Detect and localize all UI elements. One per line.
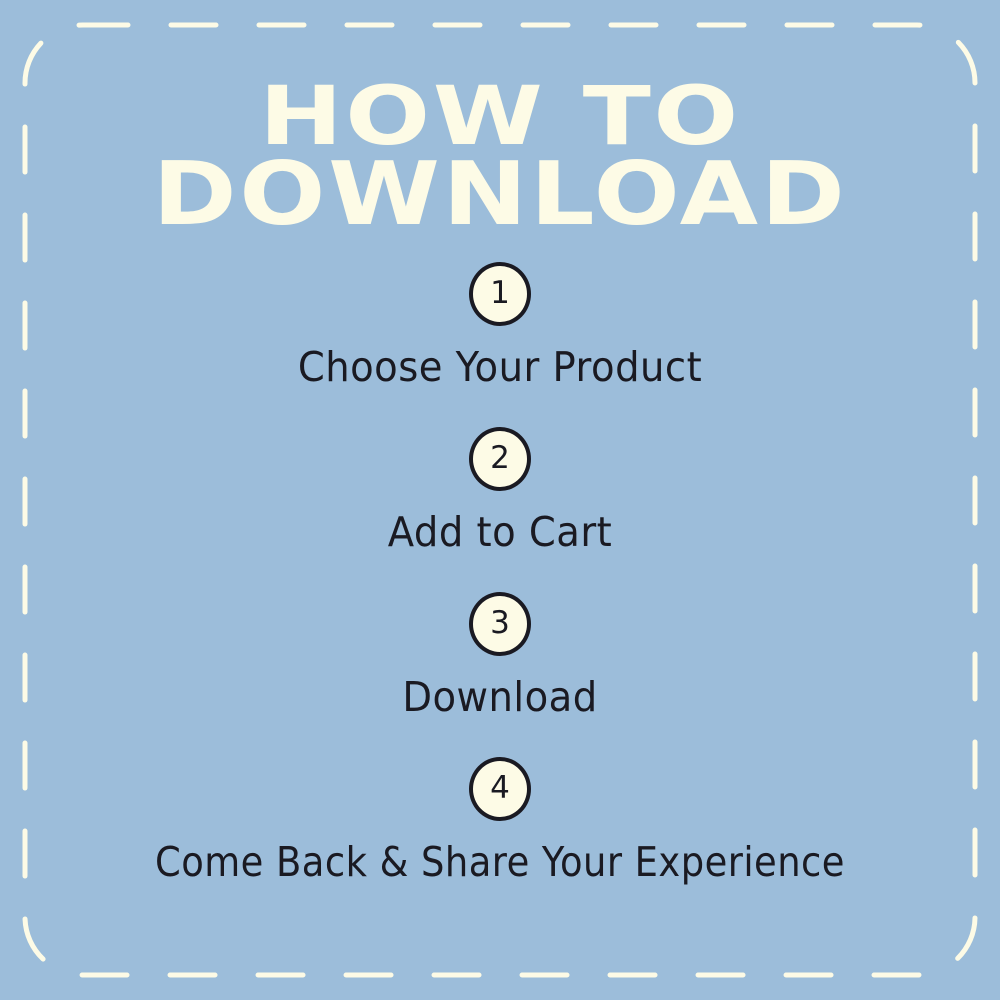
list-item: 2 Add to Cart	[0, 427, 1000, 556]
list-item: 4 Come Back & Share Your Experience	[0, 757, 1000, 886]
steps-list: 1 Choose Your Product 2 Add to Cart 3 Do…	[0, 262, 1000, 920]
list-item: 1 Choose Your Product	[0, 262, 1000, 391]
step-number-badge-3: 3	[469, 592, 531, 656]
step-label-1: Choose Your Product	[30, 343, 970, 391]
step-label-4: Come Back & Share Your Experience	[50, 838, 950, 886]
page-title: HOW TO DOWNLOAD	[0, 82, 1000, 232]
step-number-badge-2: 2	[469, 427, 531, 491]
step-number-badge-1: 1	[469, 262, 531, 326]
step-label-2: Add to Cart	[30, 508, 970, 556]
step-label-3: Download	[30, 673, 970, 721]
how-to-download-poster: HOW TO DOWNLOAD 1 Choose Your Product 2 …	[0, 0, 1000, 1000]
title-line-2: DOWNLOAD	[0, 155, 1000, 235]
step-number-badge-4: 4	[469, 757, 531, 821]
list-item: 3 Download	[0, 592, 1000, 721]
